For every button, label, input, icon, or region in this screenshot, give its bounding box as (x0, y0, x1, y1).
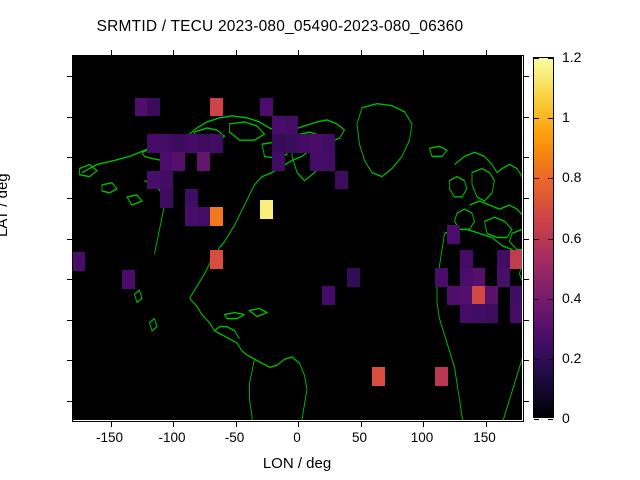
colorbar-tick (534, 58, 539, 59)
colorbar-tick-label: 0.8 (562, 169, 581, 185)
y-axis-title: LAT / deg (0, 173, 11, 237)
y-axis-tick (523, 360, 529, 361)
x-axis-tick-label: -150 (96, 430, 123, 445)
heatmap-cell (460, 268, 473, 287)
heatmap-cell (185, 134, 198, 153)
heatmap-cell (497, 268, 510, 287)
colorbar-tick-label: 0.4 (562, 290, 581, 306)
colorbar[interactable] (533, 57, 554, 418)
heatmap-cell (160, 152, 173, 171)
heatmap-plot-area[interactable] (72, 55, 522, 420)
colorbar-tick (548, 118, 553, 119)
heatmap-cell (160, 189, 173, 208)
heatmap-cell (285, 116, 298, 135)
heatmap-cell (260, 98, 273, 117)
heatmap-cell (210, 98, 223, 117)
heatmap-cell (147, 98, 160, 117)
heatmap-cell (160, 171, 173, 190)
heatmap-cell (447, 225, 460, 244)
heatmap-cell (310, 134, 323, 153)
y-axis-tick (523, 117, 529, 118)
heatmap-cell (185, 207, 198, 226)
heatmap-cell (472, 268, 485, 287)
heatmap-cell (197, 152, 210, 171)
heatmap-cell (285, 134, 298, 153)
y-axis-tick (523, 76, 529, 77)
heatmap-cell (310, 152, 323, 171)
heatmap-cell (322, 152, 335, 171)
heatmap-cell (322, 286, 335, 305)
heatmap-cell (460, 250, 473, 269)
x-axis-tick (111, 421, 112, 427)
colorbar-tick-label: 1.2 (562, 49, 581, 65)
colorbar-tick (548, 239, 553, 240)
y-axis-tick (523, 239, 529, 240)
x-axis-tick (486, 421, 487, 427)
x-axis-tick (361, 421, 362, 427)
heatmap-cell (147, 134, 160, 153)
x-axis-tick-label: 0 (293, 430, 301, 445)
heatmap-cell (210, 207, 223, 226)
colorbar-tick (548, 58, 553, 59)
heatmap-cell (297, 134, 310, 153)
y-axis-tick (523, 198, 529, 199)
colorbar-tick (534, 239, 539, 240)
heatmap-cell (160, 134, 173, 153)
colorbar-tick (534, 419, 539, 420)
x-axis-tick-label: 150 (473, 430, 496, 445)
colorbar-tick (548, 419, 553, 420)
x-axis-tick-label: -100 (158, 430, 185, 445)
colorbar-tick (548, 359, 553, 360)
y-axis-tick (523, 279, 529, 280)
heatmap-cell (447, 286, 460, 305)
heatmap-cell (122, 270, 135, 289)
heatmap-cell (347, 268, 360, 287)
colorbar-tick (534, 178, 539, 179)
heatmap-cell (460, 286, 473, 305)
y-axis-tick (523, 320, 529, 321)
heatmap-cell (472, 286, 485, 305)
colorbar-tick (548, 178, 553, 179)
plot-window: SRMTID / TECU 2023-080_05490-2023-080_06… (0, 0, 640, 480)
heatmap-cell (372, 367, 385, 386)
colorbar-tick (548, 299, 553, 300)
x-axis-title: LON / deg (0, 455, 594, 472)
x-axis-tick (298, 421, 299, 427)
heatmap-cell (472, 304, 485, 323)
heatmap-cell (485, 286, 498, 305)
colorbar-gradient (534, 58, 553, 417)
x-axis-tick-label: -50 (225, 430, 245, 445)
colorbar-tick-label: 0.6 (562, 230, 581, 246)
x-axis-tick (236, 421, 237, 427)
heatmap-cell (510, 250, 523, 269)
heatmap-cell (272, 134, 285, 153)
heatmap-cell (172, 134, 185, 153)
heatmap-cell (197, 207, 210, 226)
heatmap-cell (172, 152, 185, 171)
x-axis-tick-label: 50 (352, 430, 367, 445)
heatmap-cell (210, 250, 223, 269)
heatmap-cell (335, 171, 348, 190)
page-title: SRMTID / TECU 2023-080_05490-2023-080_06… (0, 18, 560, 36)
heatmap-cell (210, 134, 223, 153)
heatmap-cell (135, 98, 148, 117)
heatmap-cell (435, 367, 448, 386)
heatmap-cell (510, 286, 523, 305)
colorbar-tick-label: 0.2 (562, 350, 581, 366)
y-axis-tick (523, 157, 529, 158)
heatmap-cell (435, 268, 448, 287)
x-axis-tick-label: 100 (411, 430, 434, 445)
x-axis-tick (423, 421, 424, 427)
heatmap-cell (460, 304, 473, 323)
heatmap-cell (322, 134, 335, 153)
heatmap-cell (260, 200, 273, 219)
heatmap-cell (497, 250, 510, 269)
colorbar-tick (534, 359, 539, 360)
heatmap-cell (510, 304, 523, 323)
heatmap-cell (485, 304, 498, 323)
x-axis-tick (173, 421, 174, 427)
heatmap-cell (272, 152, 285, 171)
heatmap-cell (147, 171, 160, 190)
y-axis-tick (523, 401, 529, 402)
colorbar-tick (534, 299, 539, 300)
colorbar-tick-label: 0 (562, 410, 570, 426)
colorbar-tick (534, 118, 539, 119)
heatmap-cell (72, 252, 85, 271)
heatmap-cell (185, 189, 198, 208)
heatmap-cell (197, 134, 210, 153)
heatmap-cell (272, 116, 285, 135)
colorbar-tick-label: 1 (562, 109, 570, 125)
